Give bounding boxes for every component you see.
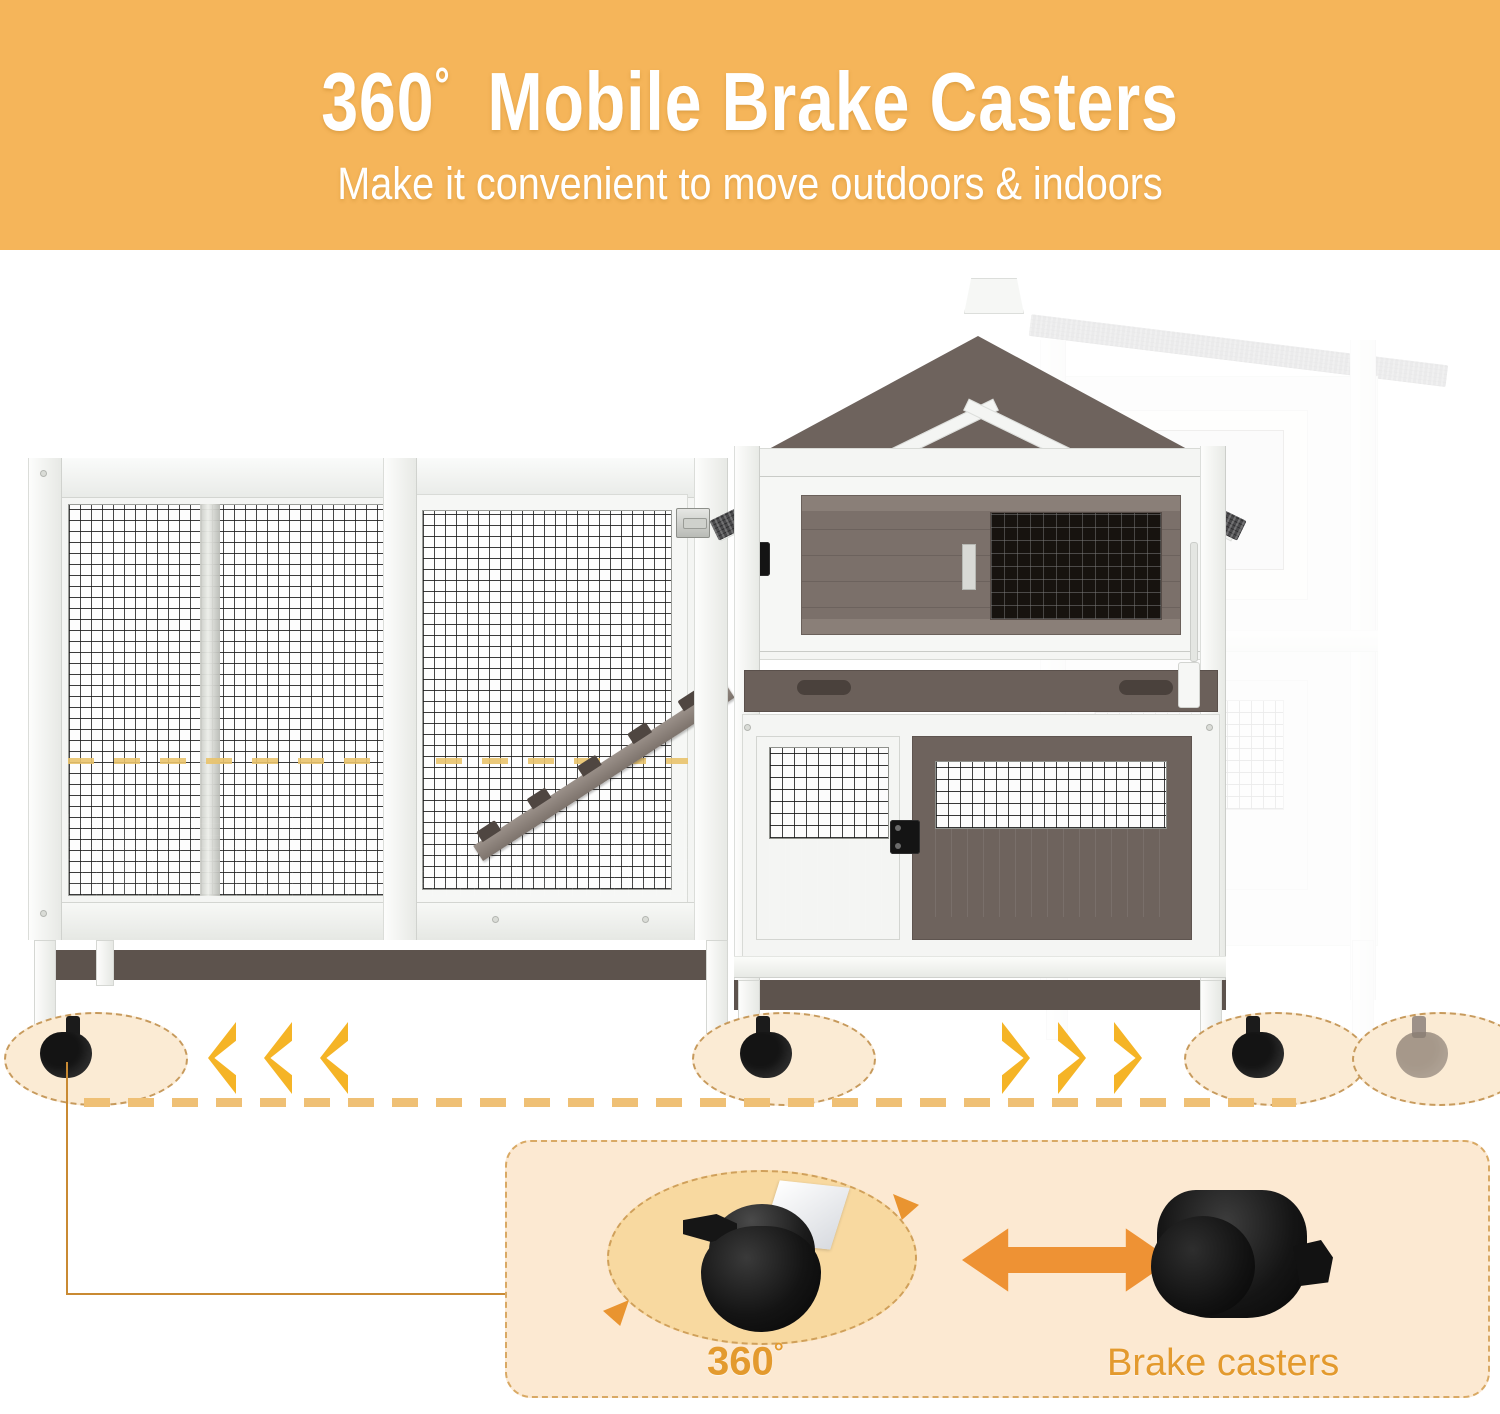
rotation-arrow-bottom — [603, 1300, 629, 1326]
screw — [40, 470, 47, 477]
run-pen — [28, 458, 728, 940]
lower-cage-hinge — [890, 820, 920, 854]
lower-cage-tray-left — [769, 839, 889, 931]
banner-title-rest: Mobile Brake Casters — [487, 55, 1178, 148]
run-leg-mid — [96, 940, 114, 986]
caster-3 — [1232, 1032, 1284, 1078]
screw — [40, 910, 47, 917]
callout-connector-horizontal — [66, 1293, 508, 1295]
caster-2 — [740, 1032, 792, 1078]
caster-highlight-1 — [4, 1012, 188, 1106]
hutch-base-rail — [734, 980, 1226, 1010]
hutch-main — [700, 280, 1260, 1040]
screw — [1206, 724, 1213, 731]
run-post-left — [28, 458, 62, 940]
product-stage — [0, 250, 1500, 1050]
brake-caster-tab — [1293, 1240, 1333, 1286]
degree-symbol: ° — [434, 60, 450, 113]
callout-connector-vertical — [66, 1062, 68, 1294]
lower-cage-door-left[interactable] — [756, 736, 900, 940]
screw — [492, 916, 499, 923]
lower-cage-door-right[interactable] — [912, 736, 1192, 940]
lower-cage-tray-right — [935, 829, 1167, 917]
callout-label-360: 360° — [707, 1338, 784, 1384]
door-mesh-window — [990, 512, 1162, 620]
callout-360-number: 360 — [707, 1339, 774, 1383]
banner-subtitle: Make it convenient to move outdoors & in… — [337, 158, 1162, 210]
pull-out-tray[interactable] — [744, 670, 1218, 712]
swivel-caster-illustration — [683, 1190, 843, 1332]
brake-caster-wheel — [1151, 1216, 1255, 1316]
tray-turn-latch[interactable] — [1178, 662, 1200, 708]
caster-callout-box: 360° Brake casters — [505, 1140, 1490, 1398]
motion-chevron-left-2 — [252, 1022, 292, 1094]
motion-chevron-left-1 — [196, 1022, 236, 1094]
run-post-mid — [383, 458, 417, 940]
door-wood-panel — [801, 495, 1181, 635]
motion-chevron-left-3 — [308, 1022, 348, 1094]
callout-360-degree: ° — [774, 1338, 784, 1366]
banner-title: 360°Mobile Brake Casters — [321, 58, 1179, 145]
upper-house-door[interactable] — [756, 476, 1208, 652]
door-slat-top — [802, 496, 1180, 511]
double-headed-arrow-icon — [962, 1224, 1172, 1296]
screw — [642, 916, 649, 923]
run-floor-tray — [68, 814, 688, 896]
run-bottom-rail — [28, 902, 728, 940]
run-top-rail — [28, 458, 728, 498]
banner-title-number: 360 — [321, 55, 434, 148]
screw — [744, 724, 751, 731]
lower-cage-mesh-left — [769, 747, 889, 839]
upper-door-hinge-right — [1190, 542, 1198, 662]
header-banner: 360°Mobile Brake Casters Make it conveni… — [0, 0, 1500, 250]
lower-cage-mesh-right — [935, 761, 1167, 829]
tray-handle-left[interactable] — [797, 680, 851, 695]
hutch-bottom-rail — [734, 956, 1226, 978]
door-pull-handle[interactable] — [962, 544, 976, 590]
door-slat-bottom — [802, 619, 1180, 634]
ground-dashed-line — [84, 1098, 1296, 1107]
gable-panel — [756, 336, 1200, 456]
roof-ridge-cap — [964, 278, 1024, 314]
callout-label-brake-casters: Brake casters — [1107, 1342, 1339, 1385]
caster-4-ghost — [1396, 1032, 1448, 1078]
product-feature-image: 360°Mobile Brake Casters Make it conveni… — [0, 0, 1500, 1414]
brake-caster-illustration — [1147, 1182, 1327, 1332]
caster-wheel — [701, 1226, 821, 1332]
tray-handle-right[interactable] — [1119, 680, 1173, 695]
run-base-rail — [56, 950, 728, 980]
